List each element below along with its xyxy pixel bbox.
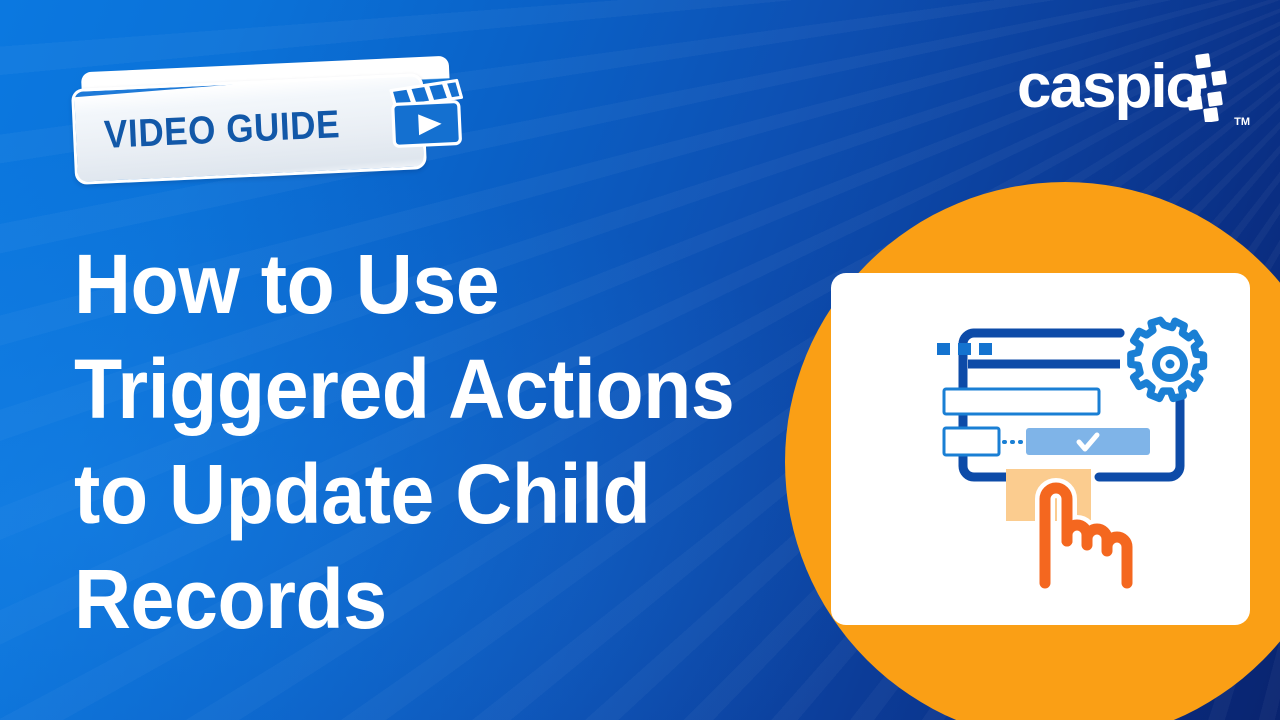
gear-icon (1131, 320, 1204, 398)
title-line-4: Records (74, 547, 751, 652)
updated-record-bar (1026, 428, 1150, 455)
caspio-logo: caspio TM (1017, 52, 1252, 132)
caspio-dots-icon (1174, 52, 1234, 122)
film-clapperboard-play-icon (383, 70, 466, 152)
title-line-2: Triggered Actions (74, 337, 751, 442)
titlebar-dot (937, 343, 950, 355)
window-titlebar-dots (937, 343, 992, 355)
badge-front-layer: VIDEO GUIDE (71, 73, 427, 185)
video-guide-badge: VIDEO GUIDE (70, 60, 470, 185)
titlebar-dot (958, 343, 971, 355)
titlebar-dot (979, 343, 992, 355)
badge-label: VIDEO GUIDE (103, 102, 341, 157)
page-title: How to Use Triggered Actions to Update C… (74, 232, 794, 652)
triggered-actions-illustration (831, 273, 1250, 625)
illustration-card (831, 273, 1250, 625)
title-line-1: How to Use (74, 232, 751, 337)
trademark-symbol: TM (1234, 116, 1250, 128)
title-line-3: to Update Child (74, 442, 751, 547)
video-thumbnail-canvas: VIDEO GUIDE caspio TM (0, 0, 1280, 720)
child-record-field (944, 428, 999, 455)
parent-record-field (944, 389, 1099, 414)
